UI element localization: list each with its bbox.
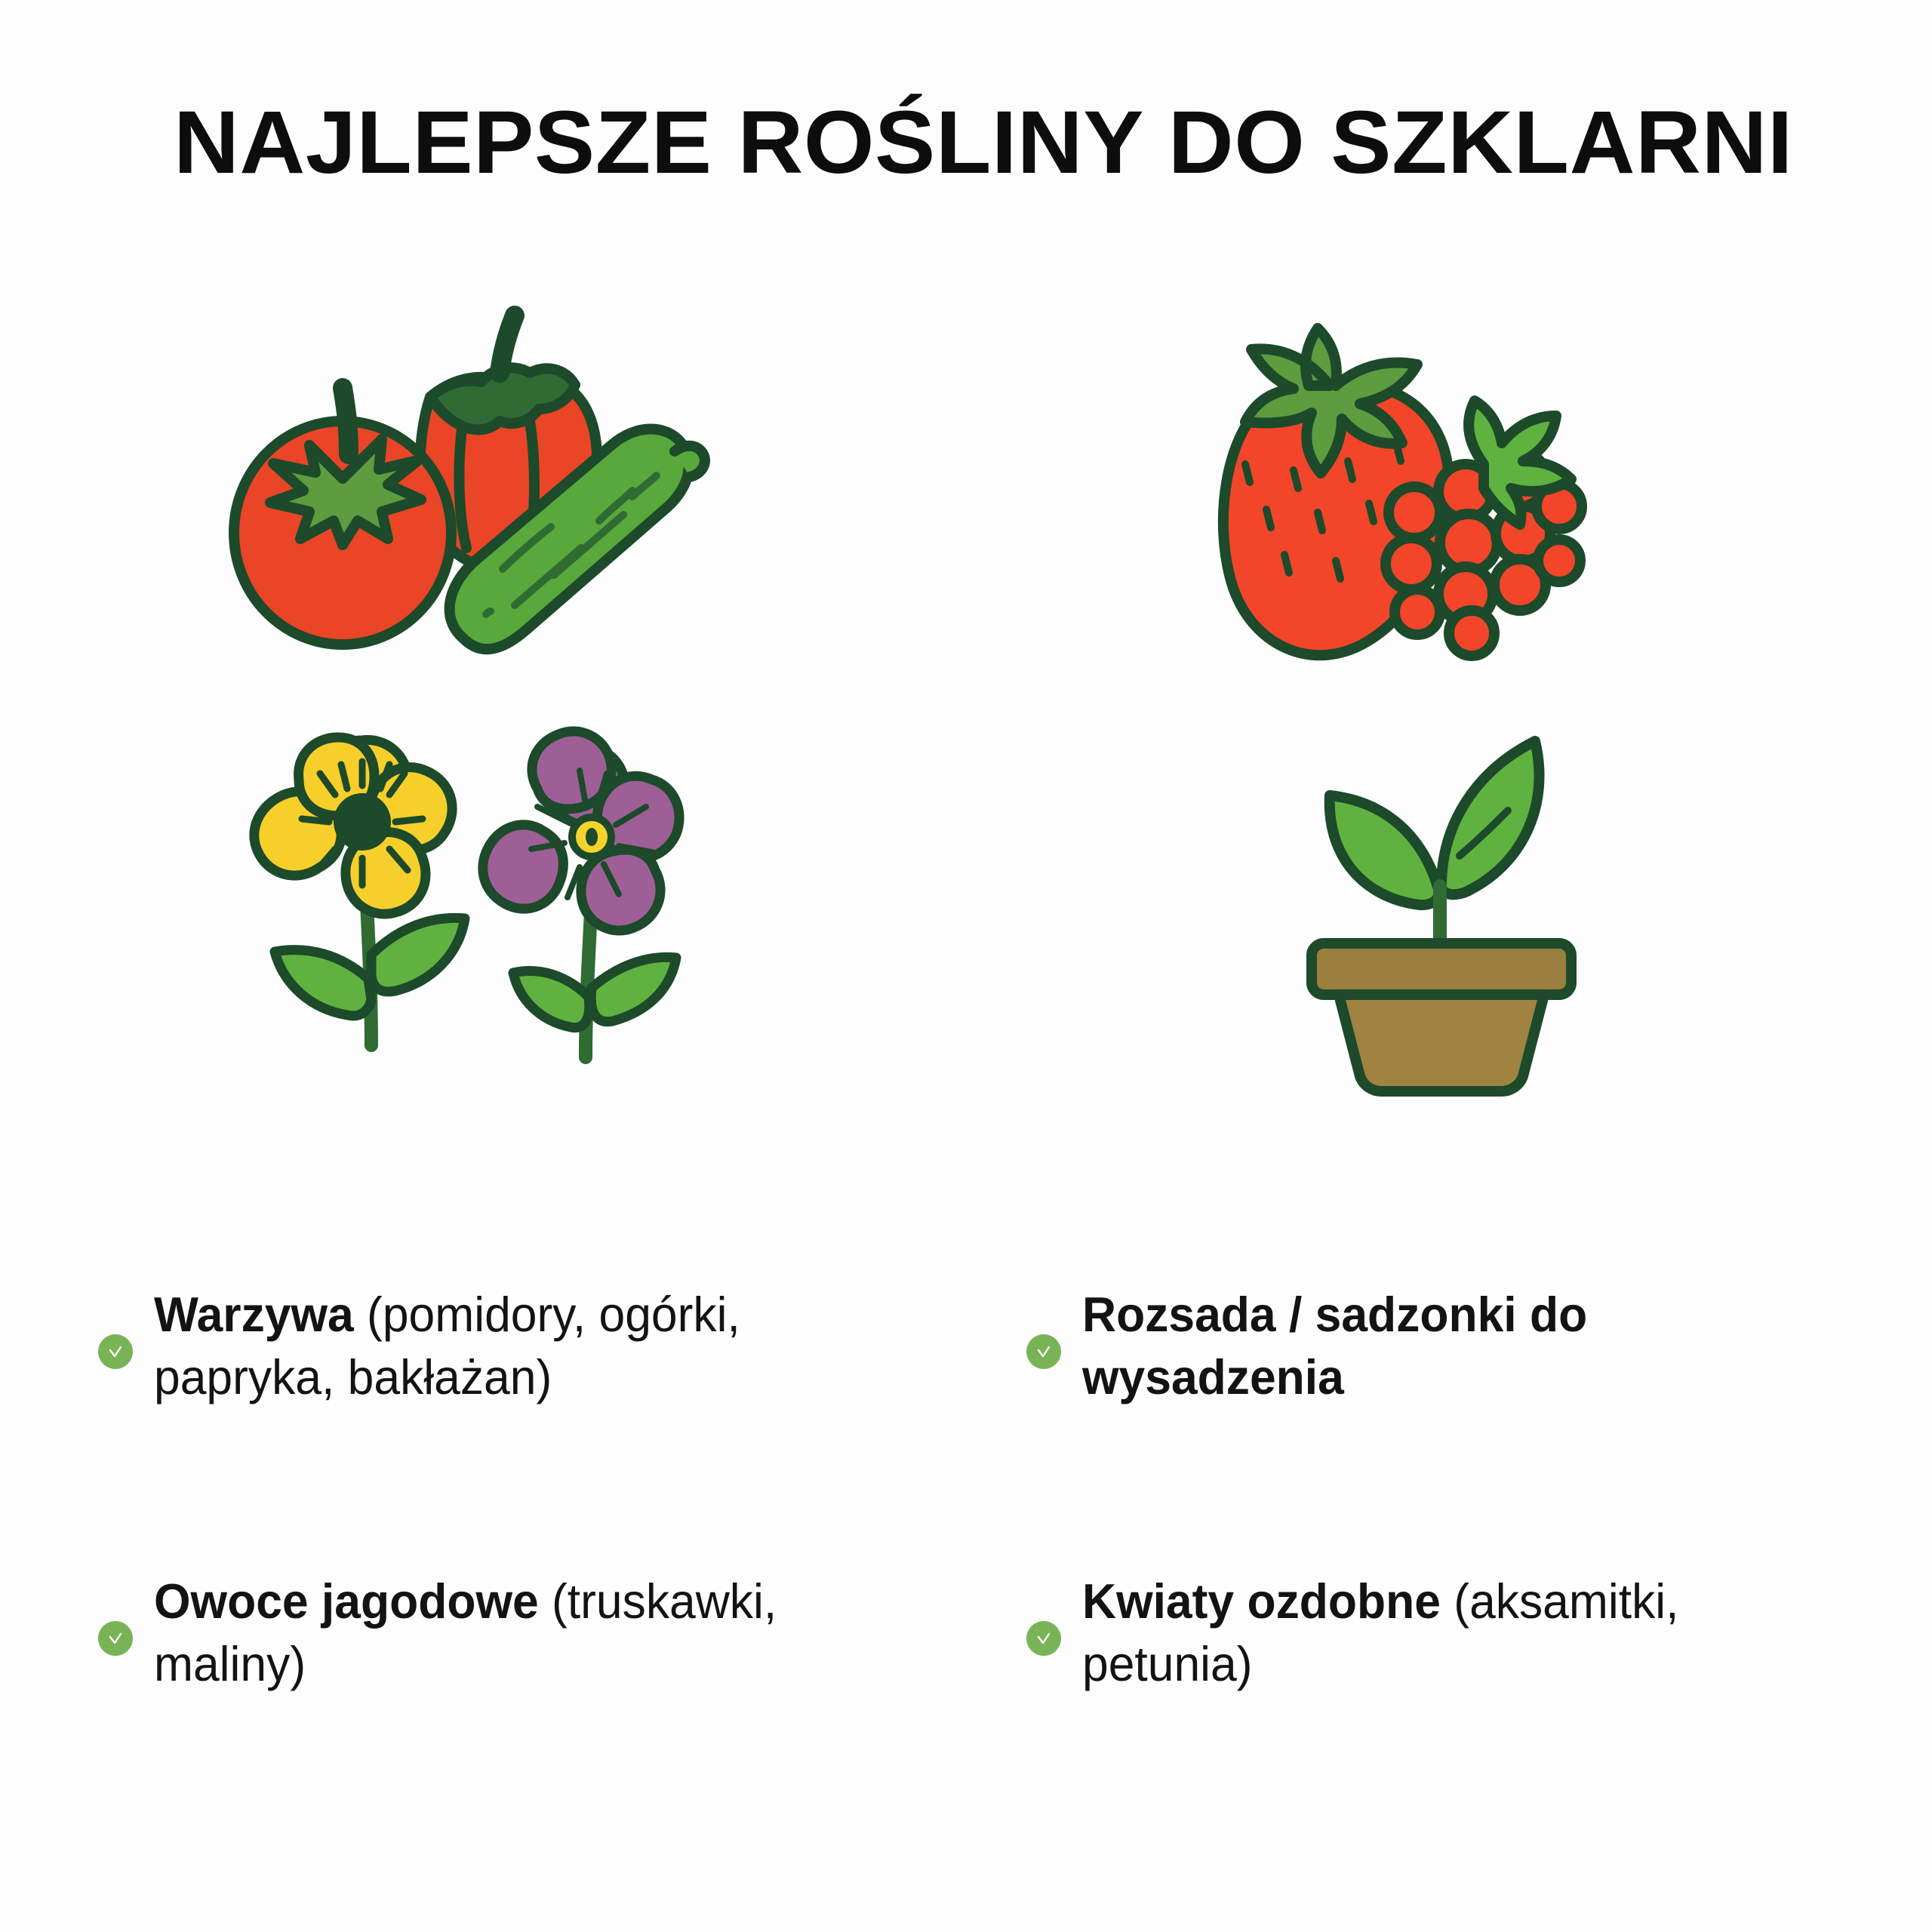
benefit-list: Warzywa (pomidory, ogórki, papryka, bakł… [0, 1253, 1932, 1826]
seedling-illustration [1064, 717, 1819, 1072]
berries-illustration [1064, 302, 1819, 679]
list-item-text: Kwiaty ozdobne (aksamitki, petunia) [1082, 1570, 1778, 1695]
list-item: Owoce jagodowe (truskawki, maliny) [98, 1570, 943, 1695]
infographic-poster: NAJLEPSZE ROŚLINY DO SZKLARNI [0, 0, 1932, 1932]
check-circle-icon [1026, 1334, 1061, 1369]
seedling-leaf-right [1441, 741, 1540, 894]
list-item-lead: Rozsada / sadzonki do wysadzenia [1082, 1287, 1587, 1404]
seedling-leaf-left [1330, 795, 1439, 905]
check-circle-icon [98, 1621, 133, 1656]
list-item-lead: Owoce jagodowe [154, 1574, 539, 1629]
illustration-grid [0, 287, 1932, 1132]
list-item-text: Owoce jagodowe (truskawki, maliny) [154, 1570, 835, 1695]
page-title: NAJLEPSZE ROŚLINY DO SZKLARNI [174, 97, 1836, 190]
list-item: Warzywa (pomidory, ogórki, papryka, bakł… [98, 1283, 943, 1408]
tomato-stem [343, 388, 349, 454]
check-circle-icon [1026, 1621, 1061, 1656]
pot-rim [1312, 943, 1571, 995]
yellow-flower-leaf-left [275, 950, 371, 1016]
purple-flower-leaf-left [513, 971, 589, 1028]
list-item-text: Rozsada / sadzonki do wysadzenia [1082, 1283, 1706, 1408]
check-circle-icon [98, 1334, 133, 1369]
list-item-text: Warzywa (pomidory, ogórki, papryka, bakł… [154, 1283, 806, 1408]
list-item-lead: Warzywa [154, 1287, 354, 1342]
pot-body [1339, 995, 1544, 1091]
list-item-lead: Kwiaty ozdobne [1082, 1574, 1441, 1629]
flowers-illustration [113, 717, 868, 1072]
list-item: Rozsada / sadzonki do wysadzenia [1026, 1283, 1872, 1408]
list-item: Kwiaty ozdobne (aksamitki, petunia) [1026, 1570, 1872, 1695]
vegetables-illustration [113, 302, 868, 679]
yellow-flower-leaf-right [371, 918, 465, 992]
purple-flower-leaf-right [591, 957, 676, 1021]
yellow-flower-center [334, 793, 391, 851]
